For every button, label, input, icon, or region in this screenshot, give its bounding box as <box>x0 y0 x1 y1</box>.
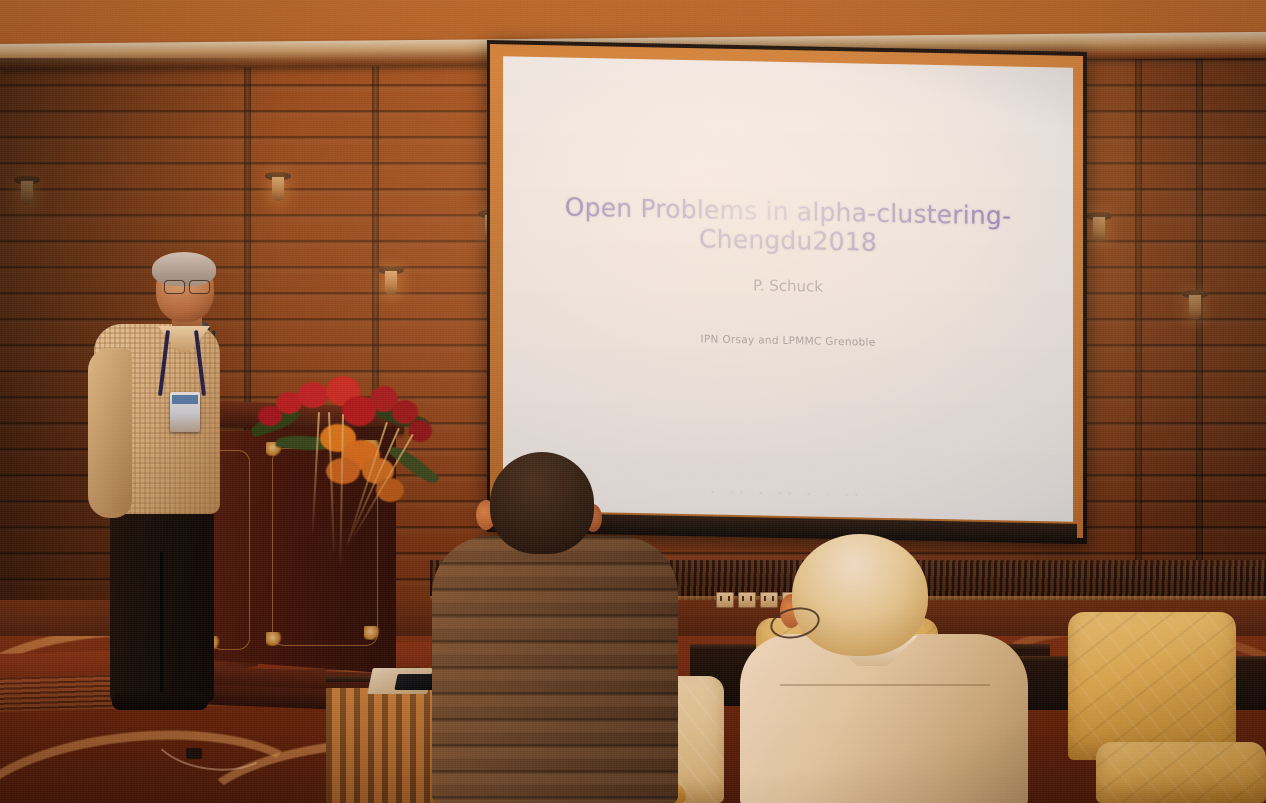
podium-gold-ornament <box>266 632 282 646</box>
rose <box>298 382 328 408</box>
speaker-leg-seam <box>160 552 163 702</box>
head-back <box>490 452 594 554</box>
slide-title: Open Problems in alpha-clustering-Chengd… <box>503 191 1073 260</box>
sconce-icon <box>14 176 40 206</box>
speaker-shoes <box>112 692 208 710</box>
floor-plug <box>186 748 202 759</box>
sconce-icon <box>265 172 291 202</box>
speaker <box>76 252 226 712</box>
floral-arrangement <box>246 362 446 562</box>
audience-member-1 <box>432 452 682 803</box>
glasses-icon <box>164 280 210 292</box>
audience-member-2 <box>740 534 1030 803</box>
head-back <box>792 534 928 656</box>
podium-gold-ornament <box>364 626 380 640</box>
chair <box>1068 612 1236 760</box>
lanyard <box>160 330 204 396</box>
sconce-icon <box>1182 290 1208 320</box>
grass-blade <box>312 412 320 532</box>
puffer-jacket <box>432 536 678 803</box>
slide-author: P. Schuck <box>503 271 1073 300</box>
rose <box>408 420 432 442</box>
conference-photo: Open Problems in alpha-clustering-Chengd… <box>0 0 1266 803</box>
sconce-icon <box>378 266 404 296</box>
badge <box>170 392 200 432</box>
sconce-icon <box>1086 212 1112 242</box>
chair <box>1096 742 1266 803</box>
shirt-seam <box>780 684 990 686</box>
badge-header-strip <box>172 395 198 404</box>
speaker-arm <box>88 348 132 518</box>
slide-affiliation: IPN Orsay and LPMMC Grenoble <box>503 329 1073 352</box>
